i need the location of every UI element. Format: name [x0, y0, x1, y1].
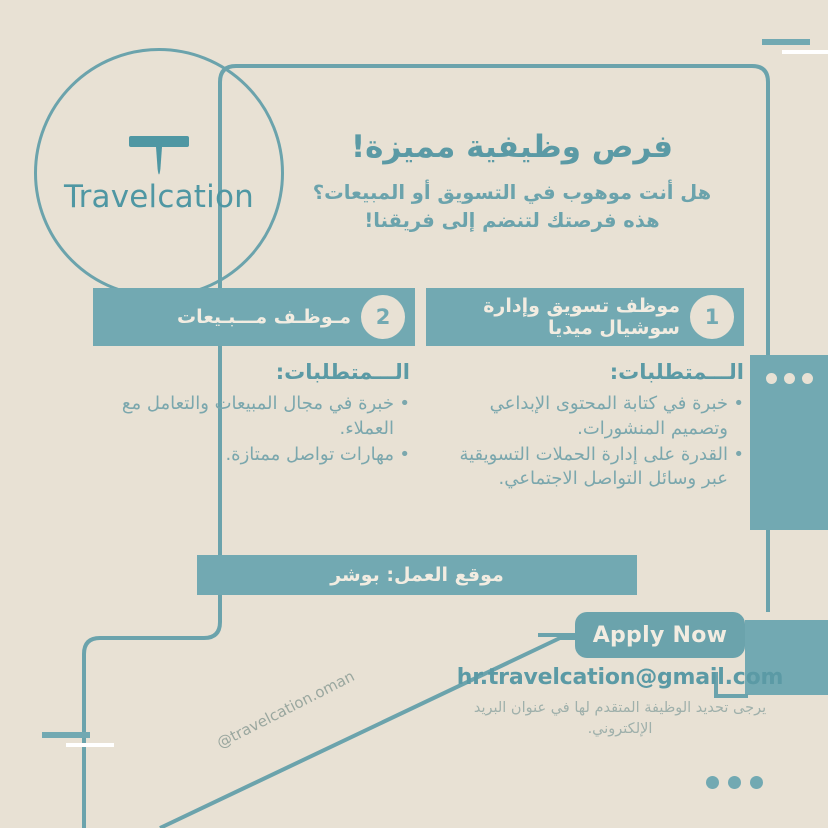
job-header-1: 1 موظف تسويق وإدارة سوشيال ميديا [426, 288, 744, 346]
requirements-heading-1: الـــمتطلبات: [444, 360, 744, 384]
page-title: فرص وظيفية مميزة! [262, 128, 762, 167]
work-location-badge: موقع العمل: بوشر [197, 555, 637, 595]
apply-now-button[interactable]: Apply Now [575, 612, 745, 658]
panel-dot-icon [766, 373, 777, 384]
requirements-heading-2: الـــمتطلبات: [110, 360, 410, 384]
requirements-column-2: الـــمتطلبات: خبرة في مجال المبيعات والت… [110, 360, 410, 468]
panel-dot-icon [784, 373, 795, 384]
contact-email[interactable]: hr.travelcation@gmail.com [455, 665, 785, 690]
requirements-list-1: خبرة في كتابة المحتوى الإبداعي وتصميم ال… [444, 392, 744, 492]
email-instruction-note: يرجى تحديد الوظيفة المتقدم لها في عنوان … [465, 698, 775, 740]
requirements-list-2: خبرة في مجال المبيعات والتعامل مع العملا… [110, 392, 410, 467]
corner-dot-icon [728, 776, 741, 789]
corner-dot-icon [706, 776, 719, 789]
brand-logo: Travelcation [34, 48, 284, 298]
travelcation-t-icon [123, 134, 195, 180]
brand-name: Travelcation [64, 182, 254, 213]
hero-subtitle-line2: هذه فرصتك لتنضم إلى فريقنا! [364, 209, 659, 232]
job-title-1: موظف تسويق وإدارة سوشيال ميديا [426, 295, 680, 340]
hero-subtitle: هل أنت موهوب في التسويق أو المبيعات؟ هذه… [262, 179, 762, 236]
panel-dot-icon [802, 373, 813, 384]
job-poster: Travelcation فرص وظيفية مميزة! هل أنت مو… [0, 0, 828, 828]
corner-dot-icon [750, 776, 763, 789]
requirements-column-1: الـــمتطلبات: خبرة في كتابة المحتوى الإب… [444, 360, 744, 493]
job-number-1: 1 [690, 295, 734, 339]
hero-text-block: فرص وظيفية مميزة! هل أنت موهوب في التسوي… [262, 128, 762, 235]
hero-subtitle-line1: هل أنت موهوب في التسويق أو المبيعات؟ [313, 181, 711, 204]
requirement-item: القدرة على إدارة الحملات التسويقية عبر و… [444, 443, 744, 493]
job-title-2: مـوظـف مـــبـيعات [93, 306, 351, 328]
social-handle: @travelcation.oman [214, 667, 358, 752]
requirement-item: مهارات تواصل ممتازة. [110, 443, 410, 468]
requirement-item: خبرة في كتابة المحتوى الإبداعي وتصميم ال… [444, 392, 744, 442]
job-header-2: 2 مـوظـف مـــبـيعات [93, 288, 415, 346]
job-number-2: 2 [361, 295, 405, 339]
requirement-item: خبرة في مجال المبيعات والتعامل مع العملا… [110, 392, 410, 442]
